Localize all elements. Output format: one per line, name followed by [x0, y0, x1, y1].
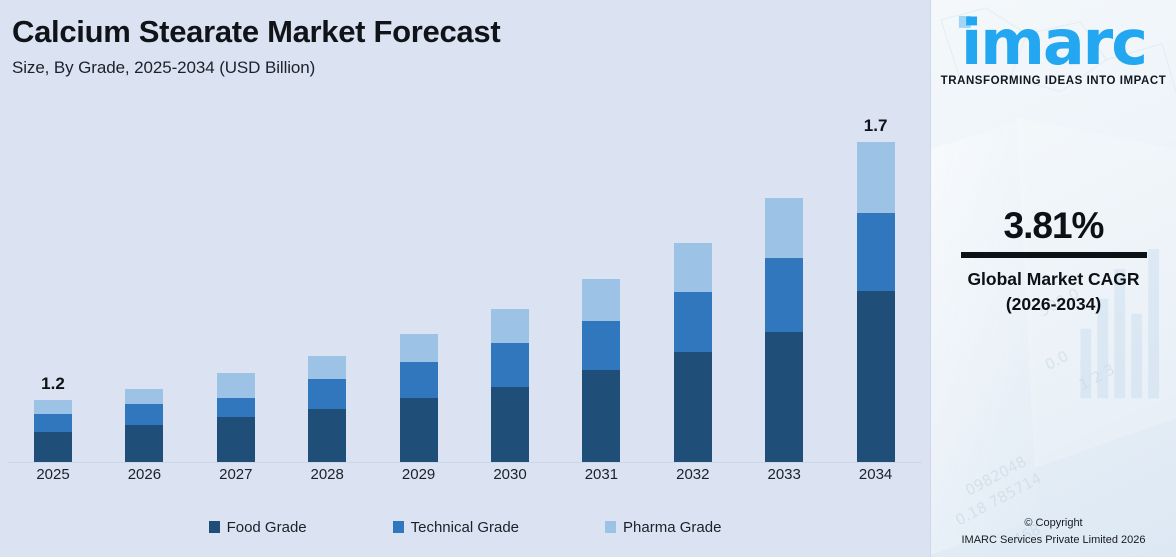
bar-2026 [125, 389, 163, 462]
imarc-logo: imarc TRANSFORMING IDEAS INTO IMPACT [931, 14, 1176, 87]
bar-segment-technical-2027 [217, 398, 255, 417]
bar-segment-food-2032 [674, 352, 712, 462]
legend-item-pharma[interactable]: Pharma Grade [605, 519, 721, 536]
bar-2025: 1.2 [34, 400, 72, 462]
logo-tagline: TRANSFORMING IDEAS INTO IMPACT [931, 75, 1176, 87]
bar-segment-pharma-2031 [582, 279, 620, 321]
bar-segment-pharma-2028 [308, 356, 346, 379]
bar-2028 [308, 356, 346, 462]
bar-segment-technical-2031 [582, 321, 620, 370]
x-tick-2025: 2025 [34, 466, 72, 483]
bar-segment-technical-2025 [34, 414, 72, 432]
bar-segment-technical-2029 [400, 362, 438, 398]
bar-2030 [491, 309, 529, 462]
page-subtitle: Size, By Grade, 2025-2034 (USD Billion) [12, 58, 500, 78]
bar-segment-technical-2032 [674, 292, 712, 352]
bar-segment-food-2030 [491, 387, 529, 462]
bar-segment-technical-2030 [491, 343, 529, 387]
bar-2033 [765, 198, 803, 462]
brand-panel: 0.0 1 2 3 500.0 0982048 0.18 785714 468 … [930, 0, 1176, 557]
bar-segment-pharma-2027 [217, 373, 255, 398]
chart-panel: Calcium Stearate Market Forecast Size, B… [0, 0, 930, 557]
bar-segment-food-2031 [582, 370, 620, 462]
bar-value-label-2034: 1.7 [864, 116, 888, 136]
bar-2031 [582, 279, 620, 462]
bar-segment-food-2027 [217, 417, 255, 462]
cagr-caption-primary: Global Market CAGR [931, 267, 1176, 292]
legend-item-technical[interactable]: Technical Grade [393, 519, 519, 536]
x-tick-2032: 2032 [674, 466, 712, 483]
x-tick-2029: 2029 [400, 466, 438, 483]
bar-segment-food-2025 [34, 432, 72, 462]
bar-segment-food-2029 [400, 398, 438, 462]
copyright-line-1: © Copyright [931, 515, 1176, 532]
logo-wordmark: imarc [931, 14, 1176, 73]
cagr-divider [961, 252, 1147, 258]
legend-swatch-icon [393, 521, 404, 533]
bar-segment-pharma-2032 [674, 243, 712, 292]
infographic-page: Calcium Stearate Market Forecast Size, B… [0, 0, 1176, 557]
bar-value-label-2025: 1.2 [41, 374, 65, 394]
axis-baseline [8, 462, 922, 463]
bar-segment-pharma-2025 [34, 400, 72, 414]
legend-label: Food Grade [227, 519, 307, 536]
x-tick-2027: 2027 [217, 466, 255, 483]
x-tick-2034: 2034 [857, 466, 895, 483]
brand-content: imarc TRANSFORMING IDEAS INTO IMPACT 3.8… [931, 0, 1176, 557]
x-tick-2033: 2033 [765, 466, 803, 483]
bar-segment-pharma-2026 [125, 389, 163, 404]
cagr-callout: 3.81% Global Market CAGR (2026-2034) [931, 205, 1176, 318]
legend-label: Technical Grade [411, 519, 519, 536]
bar-segment-pharma-2034 [857, 142, 895, 213]
bar-segment-technical-2033 [765, 258, 803, 332]
bar-segment-pharma-2029 [400, 334, 438, 362]
bar-2034: 1.7 [857, 142, 895, 462]
plot-area: 1.21.7 [0, 110, 930, 463]
chart-header: Calcium Stearate Market Forecast Size, B… [12, 14, 500, 78]
legend-item-food[interactable]: Food Grade [209, 519, 307, 536]
bar-segment-pharma-2030 [491, 309, 529, 343]
bar-segment-food-2033 [765, 332, 803, 462]
copyright-line-2: IMARC Services Private Limited 2026 [931, 532, 1176, 549]
cagr-value: 3.81% [931, 205, 1176, 247]
bar-2032 [674, 243, 712, 462]
bar-segment-food-2028 [308, 409, 346, 462]
bar-2027 [217, 373, 255, 462]
copyright-notice: © Copyright IMARC Services Private Limit… [931, 515, 1176, 549]
cagr-caption-period: (2026-2034) [931, 292, 1176, 317]
bar-segment-technical-2026 [125, 404, 163, 425]
bar-segment-food-2034 [857, 291, 895, 462]
legend-swatch-icon [209, 521, 220, 533]
legend-swatch-icon [605, 521, 616, 533]
bar-2029 [400, 334, 438, 462]
page-title: Calcium Stearate Market Forecast [12, 14, 500, 50]
bar-segment-technical-2034 [857, 213, 895, 291]
x-tick-2028: 2028 [308, 466, 346, 483]
bar-segment-food-2026 [125, 425, 163, 462]
x-tick-2031: 2031 [582, 466, 620, 483]
x-axis-ticks: 2025202620272028202920302031203220332034 [0, 466, 930, 496]
bar-segment-pharma-2033 [765, 198, 803, 258]
chart-legend: Food GradeTechnical GradePharma Grade [0, 512, 930, 542]
legend-label: Pharma Grade [623, 519, 721, 536]
x-tick-2030: 2030 [491, 466, 529, 483]
bar-segment-technical-2028 [308, 379, 346, 409]
x-tick-2026: 2026 [125, 466, 163, 483]
